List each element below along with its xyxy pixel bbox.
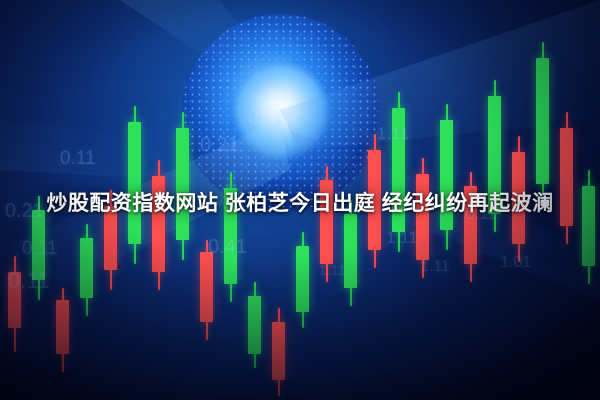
candlestick-wick	[470, 172, 472, 282]
candlestick-body	[128, 122, 141, 244]
candlestick	[582, 0, 595, 400]
candlestick	[56, 0, 69, 400]
floating-number: 1.11	[420, 258, 450, 276]
candlestick-wick	[374, 134, 376, 268]
candlestick-body	[152, 176, 165, 272]
candlestick-wick	[302, 232, 304, 328]
candlestick-body	[536, 58, 549, 184]
candlestick-body	[344, 214, 357, 288]
globe-core-glow	[236, 66, 328, 158]
candlestick-wick	[422, 158, 424, 278]
floating-number: 0.41	[208, 236, 247, 259]
candlestick-body	[272, 322, 285, 380]
banner-image: 0.111.110.210.110.210.411.110.110.111.01…	[0, 0, 600, 400]
candlestick-wick	[158, 160, 160, 290]
candlestick-wick	[134, 106, 136, 264]
candlestick-body	[32, 210, 45, 280]
candlestick-wick	[14, 256, 16, 352]
candlestick-wick	[350, 200, 352, 306]
candlestick-wick	[38, 196, 40, 300]
candlestick-wick	[542, 42, 544, 204]
candlestick-body	[8, 272, 21, 328]
candlestick	[176, 0, 189, 400]
floating-number: 0.11	[22, 238, 58, 260]
floating-number: 1.11	[377, 124, 409, 144]
candlestick	[560, 0, 573, 400]
candlestick	[128, 0, 141, 400]
candlestick-body	[296, 246, 309, 312]
candlestick	[368, 0, 381, 400]
candlestick-wick	[494, 80, 496, 232]
floating-number: 0.11	[60, 148, 96, 170]
candlestick-body	[512, 152, 525, 244]
floating-number: 0.21	[5, 200, 44, 223]
candlestick	[104, 0, 117, 400]
candlestick-body	[368, 150, 381, 250]
candlestick	[416, 0, 429, 400]
floating-number: 0.11	[8, 268, 49, 294]
candlestick-body	[416, 174, 429, 260]
candlestick-body	[104, 206, 117, 270]
candlestick	[464, 0, 477, 400]
candlestick-body	[200, 252, 213, 322]
candlestick-body	[224, 188, 237, 284]
candlestick	[440, 0, 453, 400]
candlestick	[392, 0, 405, 400]
candlestick-body	[560, 128, 573, 226]
candlestick-wick	[182, 112, 184, 260]
candlestick-wick	[566, 112, 568, 244]
candlestick-body	[464, 186, 477, 264]
candlestick-wick	[206, 240, 208, 340]
candlestick-wick	[518, 136, 520, 262]
floating-number: 1.11	[386, 228, 418, 248]
candlestick	[536, 0, 549, 400]
candlestick-wick	[86, 224, 88, 316]
candlestick	[488, 0, 501, 400]
candlestick-body	[80, 238, 93, 298]
floating-number: 0.11	[465, 204, 497, 224]
candlestick	[32, 0, 45, 400]
candlestick	[80, 0, 93, 400]
floating-number: 1.01	[500, 254, 531, 272]
candlestick	[8, 0, 21, 400]
candlestick-wick	[254, 282, 256, 368]
candlestick-body	[440, 120, 453, 230]
candlestick-wick	[62, 288, 64, 372]
candlestick-body	[248, 296, 261, 354]
candlestick-body	[582, 186, 595, 266]
candlestick-wick	[588, 170, 590, 284]
candlestick-wick	[278, 308, 280, 396]
candlestick	[152, 0, 165, 400]
candlestick-body	[56, 300, 69, 354]
floating-number: 1.11	[318, 262, 346, 279]
candlestick	[512, 0, 525, 400]
candlestick-wick	[110, 190, 112, 290]
candlestick-wick	[446, 104, 448, 250]
candlestick-wick	[398, 92, 400, 252]
candlestick-body	[488, 96, 501, 214]
candlestick-body	[392, 108, 405, 232]
